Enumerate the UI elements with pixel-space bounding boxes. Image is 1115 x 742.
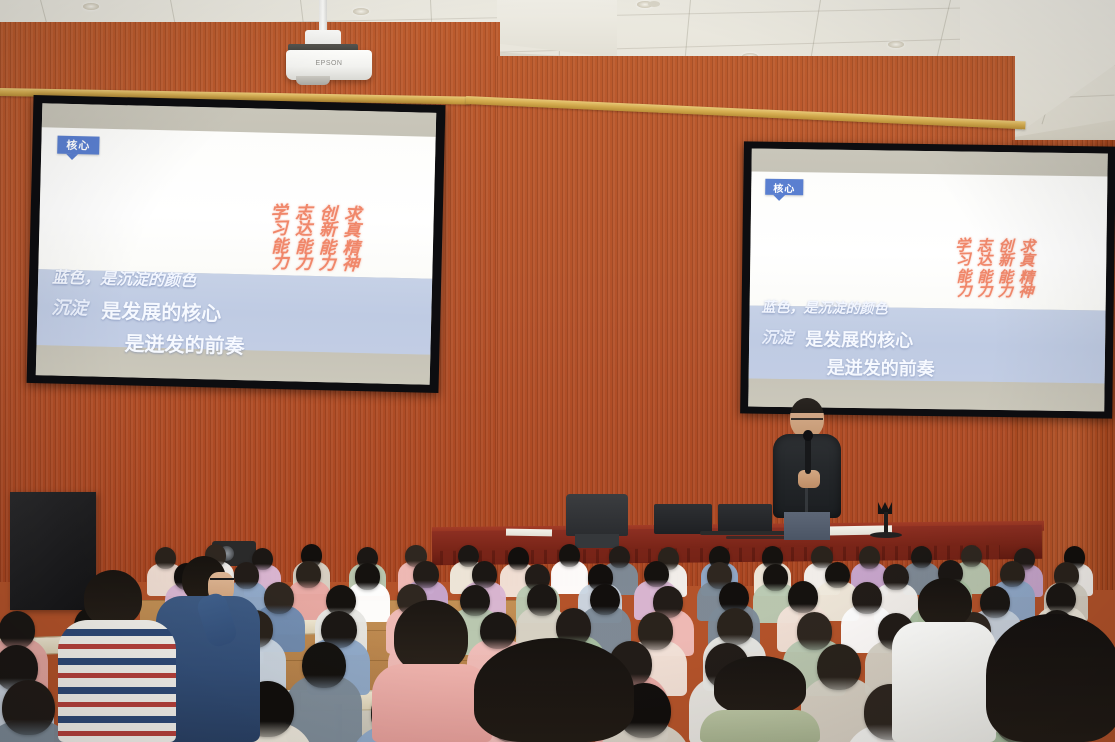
ponytail-attendee — [474, 638, 634, 742]
lecture-hall-scene: EPSON 核心 蓝色，是沉淀的颜色 沉淀 是发展的核心 是迸发的前奏 学习能力… — [0, 0, 1115, 742]
striped-attendee-shirt — [58, 620, 176, 742]
pink-attendee-hair — [394, 600, 468, 672]
foreground-attendee-right — [986, 614, 1115, 742]
white-attendee-hair — [918, 578, 972, 628]
olive-attendee-shirt — [700, 710, 820, 742]
foreground-attendee-right-hair — [986, 614, 1115, 742]
ponytail-attendee-hair — [474, 638, 634, 742]
striped-shirt-attendee — [58, 570, 176, 742]
foreground-audience — [0, 0, 1115, 742]
striped-attendee-hair — [84, 570, 142, 626]
olive-shirt-attendee — [700, 656, 820, 742]
white-attendee-shirt — [892, 622, 996, 742]
photographer-glasses-icon — [210, 578, 234, 584]
white-shirt-attendee — [892, 578, 996, 742]
olive-attendee-hair — [714, 656, 806, 714]
